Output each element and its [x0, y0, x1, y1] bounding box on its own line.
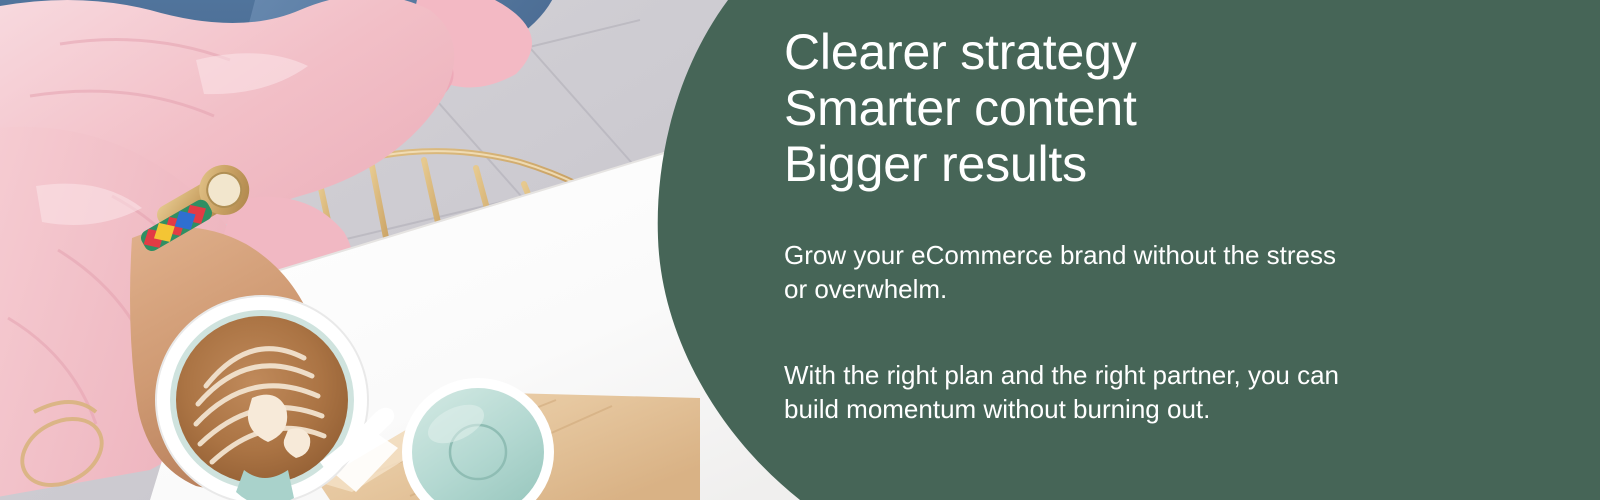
- headline-line-2: Smarter content: [784, 80, 1137, 136]
- hero-banner: Clearer strategy Smarter content Bigger …: [0, 0, 1600, 500]
- hero-body-copy: Grow your eCommerce brand without the st…: [784, 238, 1424, 426]
- hero-photo: [0, 0, 800, 500]
- paragraph-2-line-2: build momentum without burning out.: [784, 392, 1424, 426]
- paragraph-1-line-2: or overwhelm.: [784, 272, 1424, 306]
- headline-line-3: Bigger results: [784, 136, 1137, 192]
- hero-text-column: Clearer strategy Smarter content Bigger …: [784, 0, 1484, 500]
- paragraph-2-line-1: With the right plan and the right partne…: [784, 358, 1424, 392]
- page-title: Clearer strategy Smarter content Bigger …: [784, 24, 1137, 192]
- paragraph-1: Grow your eCommerce brand without the st…: [784, 238, 1424, 306]
- headline-line-1: Clearer strategy: [784, 24, 1137, 80]
- paragraph-1-line-1: Grow your eCommerce brand without the st…: [784, 238, 1424, 272]
- paragraph-2: With the right plan and the right partne…: [784, 358, 1424, 426]
